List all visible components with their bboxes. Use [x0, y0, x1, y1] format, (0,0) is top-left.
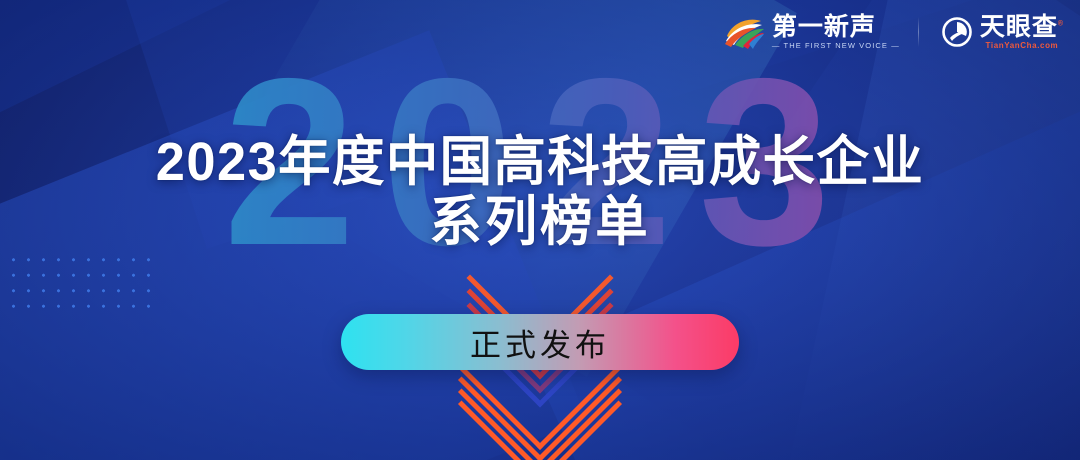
logo-divider — [918, 17, 919, 47]
logo-tianyancha-name-cn: 天眼查 — [980, 13, 1058, 41]
release-cta-button[interactable]: 正式发布 — [341, 314, 739, 370]
logo-diyi-xinsheng-text: 第一新声 — THE FIRST NEW VOICE — — [772, 14, 900, 50]
page-title-line-1: 2023年度中国高科技高成长企业 — [16, 132, 1064, 192]
release-cta-label: 正式发布 — [470, 320, 610, 365]
registered-trademark-icon: ® — [1058, 21, 1064, 28]
promo-banner: 2023 第一新声 — THE FIRST NEW VOICE — — [0, 0, 1080, 460]
logo-diyi-xinsheng-tagline: — THE FIRST NEW VOICE — — [772, 41, 900, 50]
logo-diyi-xinsheng[interactable]: 第一新声 — THE FIRST NEW VOICE — — [723, 14, 900, 50]
logo-tianyancha[interactable]: 天眼查® TianYanCha.com — [937, 14, 1064, 50]
title-block: 2023年度中国高科技高成长企业 系列榜单 — [0, 132, 1080, 253]
logo-diyi-xinsheng-name: 第一新声 — [772, 14, 900, 40]
swirl-ribbon-logo-icon — [723, 14, 765, 50]
logo-bar: 第一新声 — THE FIRST NEW VOICE — 天眼查® TianYa… — [723, 14, 1064, 50]
logo-tianyancha-tagline: TianYanCha.com — [980, 41, 1064, 50]
camera-aperture-logo-icon — [937, 14, 973, 50]
logo-tianyancha-name: 天眼查® — [980, 14, 1064, 40]
page-title-line-2: 系列榜单 — [16, 192, 1064, 252]
logo-tianyancha-text: 天眼查® TianYanCha.com — [980, 14, 1064, 50]
